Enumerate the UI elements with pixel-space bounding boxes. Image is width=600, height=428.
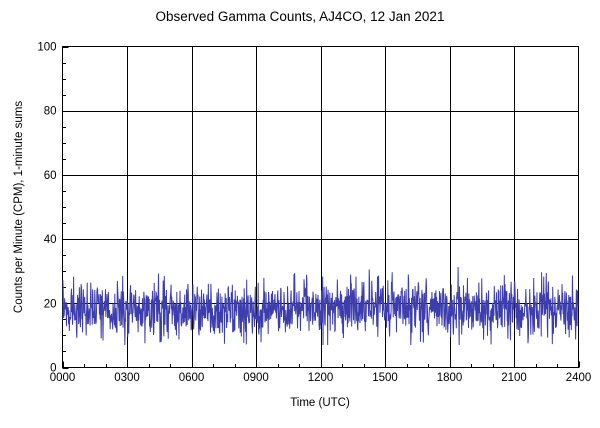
x-tick-label: 0600 — [179, 372, 205, 384]
x-tick-label: 0300 — [114, 372, 140, 384]
y-tick-label: 40 — [44, 234, 57, 246]
x-tick-label: 1800 — [437, 372, 463, 384]
x-tick-label: 2100 — [501, 372, 527, 384]
chart-background — [0, 0, 600, 428]
y-axis-title: Counts per Minute (CPM), 1-minute sums — [13, 101, 25, 313]
chart-title: Observed Gamma Counts, AJ4CO, 12 Jan 202… — [156, 9, 445, 24]
y-tick-label: 60 — [44, 170, 57, 182]
y-tick-label: 80 — [44, 106, 57, 118]
x-axis-title: Time (UTC) — [290, 397, 350, 409]
x-tick-label: 2400 — [566, 372, 592, 384]
y-tick-label: 20 — [44, 298, 57, 310]
y-tick-label: 100 — [37, 42, 56, 54]
x-tick-label: 1200 — [308, 372, 334, 384]
gamma-counts-chart: Observed Gamma Counts, AJ4CO, 12 Jan 202… — [0, 0, 600, 428]
x-tick-labels: 000003000600090012001500180021002400 — [50, 372, 592, 384]
chart-container: Observed Gamma Counts, AJ4CO, 12 Jan 202… — [0, 0, 600, 428]
x-tick-label: 1500 — [372, 372, 398, 384]
x-tick-label: 0900 — [243, 372, 269, 384]
y-tick-label: 0 — [50, 363, 56, 375]
